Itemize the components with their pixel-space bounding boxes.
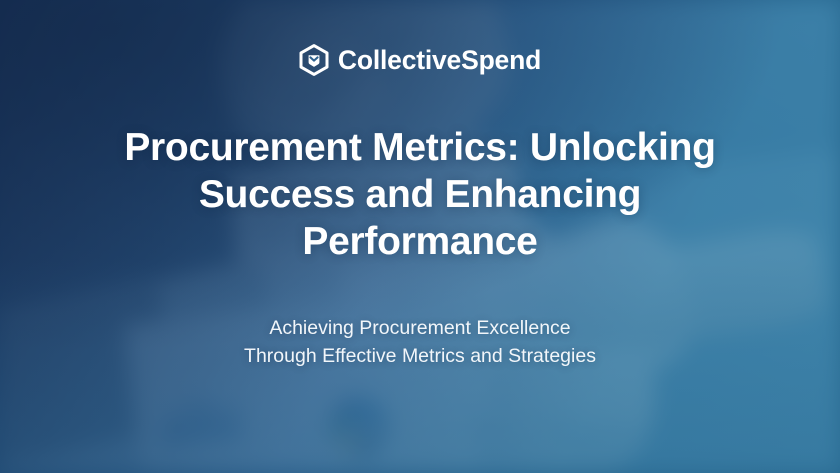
page-title: Procurement Metrics: Unlocking Success a… [90, 125, 750, 265]
page-subtitle: Achieving Procurement Excellence Through… [100, 314, 740, 370]
page-title-line-1: Procurement Metrics: Unlocking [124, 126, 715, 169]
brand-name: CollectiveSpend [338, 47, 541, 74]
page-title-line-2: Success and Enhancing [199, 173, 641, 216]
page-subtitle-line-1: Achieving Procurement Excellence [100, 314, 740, 342]
page-title-line-3: Performance [302, 220, 537, 263]
page-subtitle-line-2: Through Effective Metrics and Strategies [100, 342, 740, 370]
brand-logo[interactable]: CollectiveSpend [299, 44, 541, 76]
article-hero-banner: CollectiveSpend Procurement Metrics: Unl… [0, 0, 840, 473]
hero-content: CollectiveSpend Procurement Metrics: Unl… [0, 0, 840, 473]
hexagon-check-icon [299, 44, 329, 76]
